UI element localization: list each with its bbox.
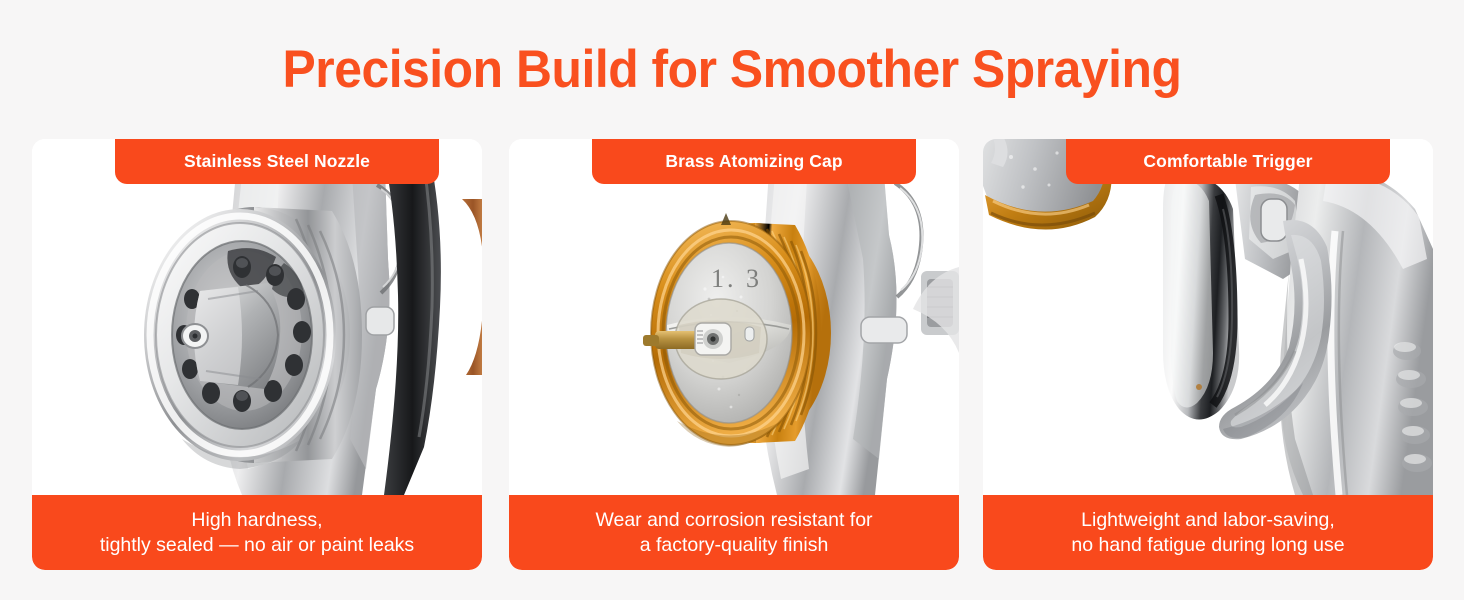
feature-infographic: Precision Build for Smoother Spraying <box>0 0 1464 600</box>
badge-brass-atomizing-cap: Brass Atomizing Cap <box>592 139 916 184</box>
feature-card-stainless-steel-nozzle: Stainless Steel Nozzle High hardness, ti… <box>32 139 482 570</box>
spray-gun-nozzle-photo <box>32 139 482 495</box>
feature-card-brass-atomizing-cap: 1. 3 <box>509 139 959 570</box>
caption-line-2: tightly sealed — no air or paint leaks <box>100 533 414 558</box>
page-title: Precision Build for Smoother Spraying <box>44 40 1420 100</box>
caption-comfortable-trigger: Lightweight and labor-saving, no hand fa… <box>983 495 1433 570</box>
caption-line-2: a factory-quality finish <box>640 533 829 558</box>
caption-brass-atomizing-cap: Wear and corrosion resistant for a facto… <box>509 495 959 570</box>
badge-comfortable-trigger: Comfortable Trigger <box>1066 139 1390 184</box>
feature-card-comfortable-trigger: Comfortable Trigger Lightweight and labo… <box>983 139 1433 570</box>
caption-stainless-steel-nozzle: High hardness, tightly sealed — no air o… <box>32 495 482 570</box>
caption-line-1: High hardness, <box>191 508 322 533</box>
caption-line-2: no hand fatigue during long use <box>1071 533 1344 558</box>
engraving-text: 1. 3 <box>711 264 762 293</box>
brass-atomizing-cap-photo: 1. 3 <box>509 139 959 495</box>
spray-gun-trigger-photo <box>983 139 1433 495</box>
badge-stainless-steel-nozzle: Stainless Steel Nozzle <box>115 139 439 184</box>
caption-line-1: Lightweight and labor-saving, <box>1081 508 1335 533</box>
caption-line-1: Wear and corrosion resistant for <box>595 508 872 533</box>
